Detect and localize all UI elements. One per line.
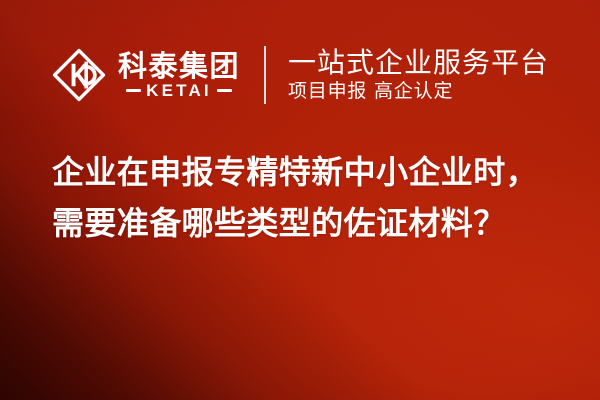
headline-line-2: 需要准备哪些类型的佐证材料？ [52,201,548,246]
tagline-sub: 项目申报 高企认定 [288,81,549,103]
brand-logo-text: 科泰集团 KETAI [118,52,240,99]
headline-block: 企业在申报专精特新中小企业时， 需要准备哪些类型的佐证材料？ [0,150,600,247]
company-name-en-row: KETAI [118,82,240,99]
brand-tagline: 一站式企业服务平台 项目申报 高企认定 [288,47,549,103]
company-name-en: KETAI [146,82,212,99]
headline-line-1: 企业在申报专精特新中小企业时， [52,150,548,195]
banner-header: 科泰集团 KETAI 一站式企业服务平台 项目申报 高企认定 [0,34,600,116]
dash-left-icon [126,89,141,92]
dash-right-icon [217,89,232,92]
promo-banner: 科泰集团 KETAI 一站式企业服务平台 项目申报 高企认定 企业在申报专精特新… [0,0,600,400]
ketai-diamond-monogram-icon [51,47,107,103]
header-divider [264,46,266,104]
brand-logo[interactable]: 科泰集团 KETAI [51,47,240,103]
tagline-main: 一站式企业服务平台 [288,47,549,78]
company-name-cn: 科泰集团 [118,52,240,81]
